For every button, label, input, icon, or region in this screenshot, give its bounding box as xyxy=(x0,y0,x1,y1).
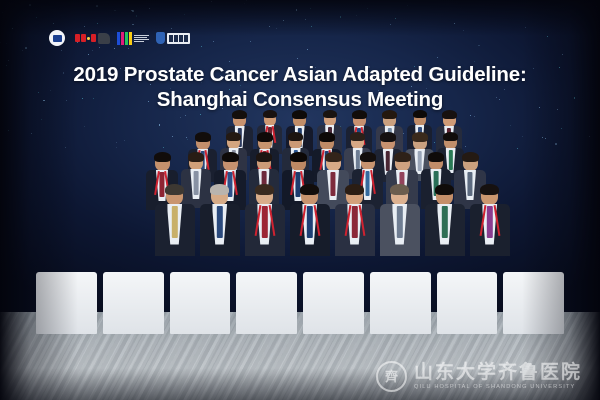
watermark-chinese: 山东大学齐鲁医院 xyxy=(414,363,582,382)
hospital-seal-icon: 齊 xyxy=(376,361,407,392)
screenshot-root: 2019 Prostate Cancer Asian Adapted Guide… xyxy=(0,0,600,400)
event-title-line-1: 2019 Prostate Cancer Asian Adapted Guide… xyxy=(73,63,526,86)
shield-logo xyxy=(156,29,190,47)
hospital-watermark: 齊 山东大学齐鲁医院 QILU HOSPITAL OF SHANDONG UNI… xyxy=(376,361,582,392)
event-title-line-2: Shanghai Consensus Meeting xyxy=(0,87,600,112)
round-emblem-logo xyxy=(46,29,68,47)
sponsor-logo-strip xyxy=(46,28,190,48)
csco-logo xyxy=(75,29,110,47)
event-title: 2019 Prostate Cancer Asian Adapted Guide… xyxy=(0,62,600,112)
seal-glyph: 齊 xyxy=(385,370,398,383)
edge-vignette xyxy=(0,0,600,400)
watermark-english: QILU HOSPITAL OF SHANDONG UNIVERSITY xyxy=(414,385,582,391)
color-bars-logo xyxy=(117,29,149,47)
